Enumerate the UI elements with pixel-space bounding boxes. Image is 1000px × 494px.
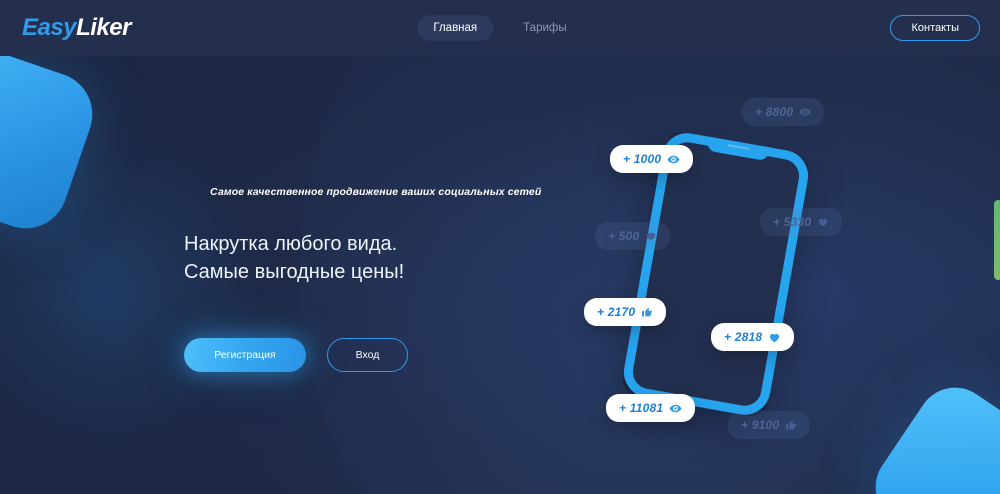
badge-value: + 1000: [623, 152, 661, 166]
hero-headline: Накрутка любого вида. Самые выгодные цен…: [184, 230, 584, 287]
heart-icon: [645, 230, 657, 242]
contacts-button[interactable]: Контакты: [890, 15, 980, 41]
eye-icon: [669, 402, 682, 415]
hero-cta-row: Регистрация Вход: [184, 338, 408, 372]
nav-item-home[interactable]: Главная: [417, 15, 493, 41]
eye-icon: [799, 106, 811, 118]
badge-value: + 2818: [724, 330, 762, 344]
nav-item-prices[interactable]: Тарифы: [507, 15, 582, 41]
badge-value: + 500: [608, 229, 639, 243]
logo-text-liker: Liker: [76, 14, 131, 41]
badge-value: + 5330: [773, 215, 811, 229]
eye-icon: [667, 153, 680, 166]
hero-headline-line-2: Самые выгодные цены!: [184, 258, 584, 286]
thumb-icon: [641, 306, 653, 318]
landing-page: EasyLiker Главная Тарифы Контакты Самое …: [0, 0, 1000, 494]
register-button[interactable]: Регистрация: [184, 338, 306, 372]
thumb-icon: [785, 419, 797, 431]
badge-views-8800: + 8800: [742, 98, 824, 126]
login-button[interactable]: Вход: [327, 338, 408, 372]
heart-icon: [817, 216, 829, 228]
badge-value: + 2170: [597, 305, 635, 319]
site-header: EasyLiker Главная Тарифы Контакты: [0, 0, 1000, 56]
hero-tagline: Самое качественное продвижение ваших соц…: [210, 186, 540, 198]
badge-value: + 8800: [755, 105, 793, 119]
badge-likes-5330: + 5330: [760, 208, 842, 236]
main-nav: Главная Тарифы: [417, 0, 582, 56]
badge-likes-500: + 500: [595, 222, 670, 250]
hero-headline-line-1: Накрутка любого вида.: [184, 230, 584, 258]
badge-likes-2170: + 2170: [584, 298, 666, 326]
site-logo[interactable]: EasyLiker: [22, 14, 131, 42]
badge-likes-9100: + 9100: [728, 411, 810, 439]
badge-likes-2818: + 2818: [711, 323, 794, 351]
hero-text-block: Самое качественное продвижение ваших соц…: [184, 186, 584, 287]
phone-speaker: [727, 144, 749, 150]
logo-text-easy: Easy: [22, 14, 76, 41]
heart-icon: [768, 331, 781, 344]
phone-illustration: EasyLiker + 1000 + 8800 + 500: [600, 78, 1000, 478]
badge-views-11081: + 11081: [606, 394, 695, 422]
badge-views-1000: + 1000: [610, 145, 693, 173]
badge-value: + 9100: [741, 418, 779, 432]
badge-value: + 11081: [619, 401, 663, 415]
phone-notch: [706, 137, 769, 162]
